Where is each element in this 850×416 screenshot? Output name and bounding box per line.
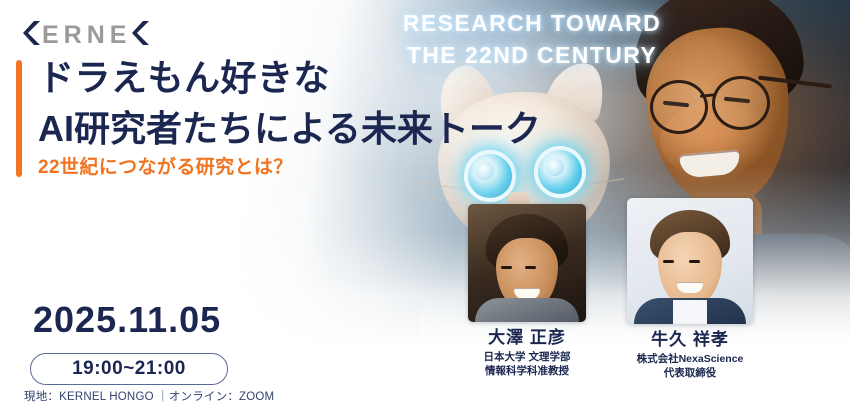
japanese-title-line1: ドラえもん好きな xyxy=(38,52,541,103)
speaker-card-2: 牛久 祥孝 株式会社NexaScience 代表取締役 xyxy=(622,198,758,380)
speaker-2-smile xyxy=(677,282,703,293)
speaker-2-collar xyxy=(673,300,707,324)
speaker-2-name: 牛久 祥孝 xyxy=(622,331,758,350)
speaker-2-photo xyxy=(627,198,753,324)
logo-chevron-left-icon xyxy=(22,20,42,51)
logo-wordmark: ERNE xyxy=(42,23,131,48)
speaker-1-photo xyxy=(468,204,586,322)
japanese-title: ドラえもん好きな AI研究者たちによる未来トーク xyxy=(38,52,541,154)
japanese-subtitle: 22世紀につながる研究とは？ xyxy=(38,152,293,179)
japanese-title-line2: AI研究者たちによる未来トーク xyxy=(38,103,541,154)
speaker-1-affiliation-line1: 日本大学 文理学部 xyxy=(462,351,592,365)
kernel-logo[interactable]: ERNE xyxy=(22,20,151,51)
event-date: 2025.11.05 xyxy=(33,302,221,338)
speaker-1-affiliation: 日本大学 文理学部 情報科学科准教授 xyxy=(462,351,592,379)
speaker-card-1: 大澤 正彦 日本大学 文理学部 情報科学科准教授 xyxy=(462,204,592,378)
speaker-1-eye-right xyxy=(525,266,536,269)
english-headline-line1: RESEARCH TOWARD xyxy=(372,8,692,40)
event-venue: 現地：KERNEL HONGO ｜オンライン：ZOOM xyxy=(24,388,274,404)
orange-accent-bar xyxy=(16,60,22,177)
speaker-2-affiliation-line1: 株式会社NexaScience xyxy=(622,353,758,367)
speaker-1-body xyxy=(475,298,579,322)
event-time-box: 19:00~21:00 xyxy=(30,353,228,385)
event-time-label: 19:00~21:00 xyxy=(72,358,186,380)
event-banner: RESEARCH TOWARD THE 22ND CENTURY ERNE ドラ… xyxy=(0,0,850,416)
speaker-1-name: 大澤 正彦 xyxy=(462,329,592,348)
speaker-2-affiliation-line2: 代表取締役 xyxy=(622,367,758,381)
speaker-1-eye-left xyxy=(501,266,512,269)
speaker-2-eye-left xyxy=(663,260,674,263)
speaker-2-eye-right xyxy=(689,260,700,263)
speaker-1-affiliation-line2: 情報科学科准教授 xyxy=(462,365,592,379)
speaker-2-affiliation: 株式会社NexaScience 代表取締役 xyxy=(622,353,758,381)
logo-chevron-right-icon xyxy=(131,20,151,51)
speaker-2-face xyxy=(658,232,722,308)
